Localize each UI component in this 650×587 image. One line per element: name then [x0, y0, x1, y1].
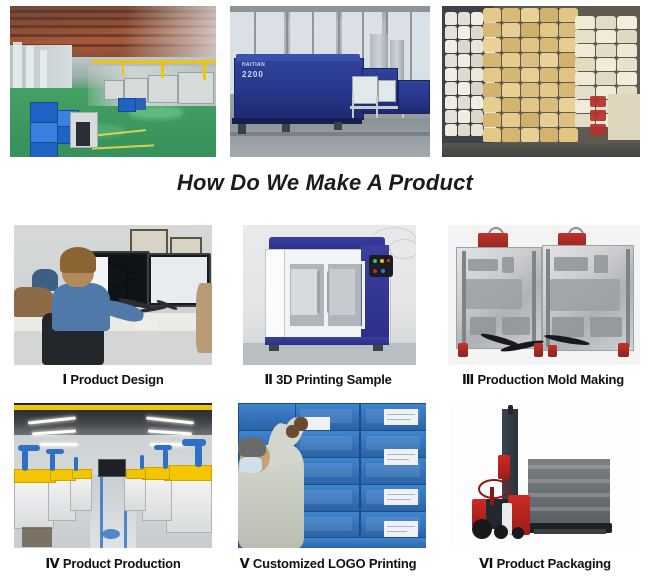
- customized-logo-printing-photo: [238, 403, 426, 548]
- injection-machine-photo: HAITIAN 2200: [230, 6, 430, 157]
- step-caption-4: Ⅳ Product Production: [14, 556, 212, 572]
- machine-model-label: 2200: [242, 70, 264, 79]
- product-design-photo: [14, 225, 212, 365]
- product-process-page: HAITIAN 2200: [0, 0, 650, 587]
- step-caption-6: Ⅵ Product Packaging: [450, 556, 640, 572]
- product-production-photo: [14, 403, 212, 548]
- step-caption-2: Ⅱ 3D Printing Sample: [228, 372, 428, 388]
- 3d-printing-sample-photo: [243, 225, 416, 365]
- step-caption-3: Ⅲ Production Mold Making: [443, 372, 643, 388]
- production-mold-making-photo: [448, 225, 640, 365]
- step-caption-5: Ⅴ Customized LOGO Printing: [228, 556, 428, 572]
- page-title: How Do We Make A Product: [0, 170, 650, 196]
- step-caption-1: Ⅰ Product Design: [14, 372, 212, 388]
- product-packaging-photo: [450, 403, 640, 548]
- raw-material-warehouse-photo: [442, 6, 640, 157]
- factory-workshop-photo: [10, 6, 216, 157]
